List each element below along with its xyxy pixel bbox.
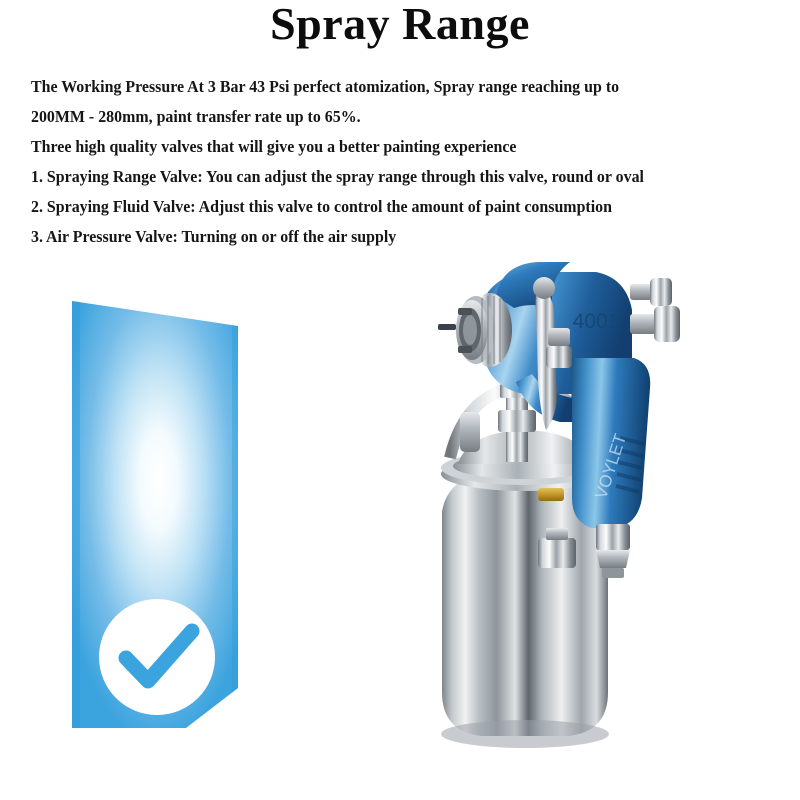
description-line: 1. Spraying Range Valve: You can adjust … <box>31 162 764 192</box>
model-number-label: 4001 <box>573 310 620 333</box>
description-line: The Working Pressure At 3 Bar 43 Psi per… <box>31 72 764 102</box>
fluid-valve-knob <box>630 306 680 342</box>
check-icon <box>126 631 192 681</box>
spray-range-valve-knob <box>630 278 672 306</box>
spray-pattern-panel <box>72 301 238 728</box>
description-line: 2. Spraying Fluid Valve: Adjust this val… <box>31 192 764 222</box>
product-detail-page: Spray Range The Working Pressure At 3 Ba… <box>0 0 800 800</box>
air-cap <box>438 293 512 367</box>
description-line: 3. Air Pressure Valve: Turning on or off… <box>31 222 764 252</box>
check-badge-circle <box>99 599 215 715</box>
air-pressure-valve-knob <box>546 328 572 368</box>
description-line: Three high quality valves that will give… <box>31 132 764 162</box>
panel-right-edge <box>232 325 238 693</box>
panel-left-edge <box>72 301 80 728</box>
description-block: The Working Pressure At 3 Bar 43 Psi per… <box>31 72 791 252</box>
description-line: 200MM - 280mm, paint transfer rate up to… <box>31 102 764 132</box>
brass-fitting <box>538 488 564 501</box>
spray-gun-product-image: 4001 VOYLET <box>420 262 720 762</box>
page-title: Spray Range <box>0 0 800 50</box>
